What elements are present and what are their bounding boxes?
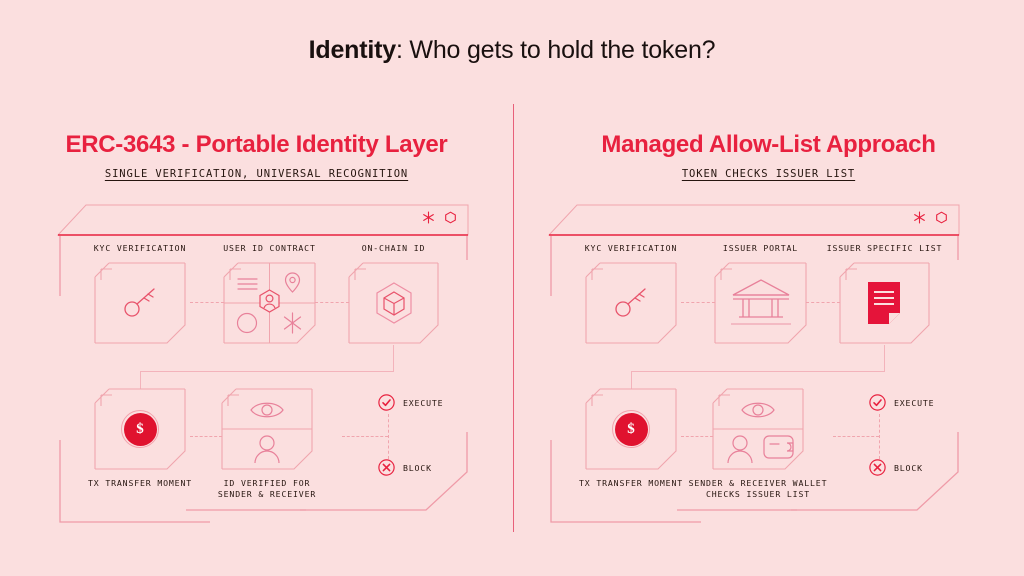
left-connector-top-1: [190, 302, 224, 303]
left-connector-top-2: [315, 302, 349, 303]
asterisk-icon: [422, 211, 435, 224]
check-circle-icon: [869, 394, 886, 411]
left-node-idverified-label: ID VERIFIED FOR SENDER & RECEIVER: [147, 478, 387, 500]
left-frame-header-glyphs: [422, 211, 457, 224]
left-outcome-execute-label: EXECUTE: [403, 398, 443, 408]
left-column-title: ERC-3643 - Portable Identity Layer: [0, 131, 513, 159]
left-node-user-id-contract[interactable]: USER ID CONTRACT: [224, 263, 315, 343]
right-node-wallet-label: SENDER & RECEIVER WALLET CHECKS ISSUER L…: [638, 478, 878, 500]
right-outcome-branch: [879, 414, 880, 459]
left-connector-down-to-tx: [140, 371, 141, 389]
infographic-canvas: Identity: Who gets to hold the token? ER…: [0, 0, 1024, 576]
right-connector-down-to-tx: [631, 371, 632, 389]
coin-symbol: $: [136, 422, 144, 437]
right-outcome-execute[interactable]: EXECUTE: [869, 394, 934, 411]
right-connector-vertical: [884, 345, 885, 371]
right-outcome-execute-label: EXECUTE: [894, 398, 934, 408]
right-node-kyc-verification[interactable]: KYC VERIFICATION: [586, 263, 676, 343]
x-circle-icon: [378, 459, 395, 476]
dollar-coin-icon: $: [612, 410, 650, 448]
right-frame-header-glyphs: [913, 211, 948, 224]
left-node-onchain-label: ON-CHAIN ID: [274, 243, 514, 254]
right-column-heading: Managed Allow-List Approach TOKEN CHECKS…: [513, 131, 1024, 180]
left-outcome-execute[interactable]: EXECUTE: [378, 394, 443, 411]
coin-disc: $: [615, 413, 648, 446]
x-circle-icon: [869, 459, 886, 476]
eye-person-wallet-icon: [713, 389, 803, 469]
document-filled-icon: [867, 281, 901, 325]
left-connector-horizontal: [140, 371, 394, 372]
coin-symbol: $: [627, 422, 635, 437]
asterisk-icon: [913, 211, 926, 224]
check-circle-icon: [378, 394, 395, 411]
hexagon-icon: [935, 211, 948, 224]
key-icon: [124, 287, 157, 318]
right-node-tx-transfer[interactable]: TX TRANSFER MOMENT $: [586, 389, 676, 469]
right-node-issuerlist-label: ISSUER SPECIFIC LIST: [765, 243, 1005, 254]
right-connector-horizontal: [631, 371, 885, 372]
right-outcome-block[interactable]: BLOCK: [869, 459, 923, 476]
coin-disc: $: [124, 413, 157, 446]
right-connector-top-1: [681, 302, 715, 303]
page-title: Identity: Who gets to hold the token?: [0, 36, 1024, 65]
left-node-kyc-verification[interactable]: KYC VERIFICATION: [95, 263, 185, 343]
bank-icon: [727, 277, 795, 331]
dollar-coin-icon: $: [121, 410, 159, 448]
right-column-subtitle: TOKEN CHECKS ISSUER LIST: [513, 168, 1024, 180]
right-column-title: Managed Allow-List Approach: [513, 131, 1024, 159]
right-outcome-block-label: BLOCK: [894, 463, 923, 473]
page-title-bold: Identity: [309, 36, 396, 64]
right-connector-top-2: [806, 302, 840, 303]
left-column-heading: ERC-3643 - Portable Identity Layer SINGL…: [0, 131, 513, 180]
hexagon-icon: [444, 211, 457, 224]
left-node-onchain-id[interactable]: ON-CHAIN ID: [349, 263, 438, 343]
left-connector-vertical: [393, 345, 394, 371]
left-outcome-branch: [388, 414, 389, 459]
left-outcome-block-label: BLOCK: [403, 463, 432, 473]
right-connector-bottom-1: [681, 436, 713, 437]
left-node-tx-transfer[interactable]: TX TRANSFER MOMENT $: [95, 389, 185, 469]
key-icon: [615, 287, 648, 318]
left-connector-bottom-1: [190, 436, 222, 437]
left-node-id-verified[interactable]: ID VERIFIED FOR SENDER & RECEIVER: [222, 389, 312, 469]
right-node-issuer-portal[interactable]: ISSUER PORTAL: [715, 263, 806, 343]
hexagon-cube-icon: [373, 281, 415, 325]
right-node-issuer-list[interactable]: ISSUER SPECIFIC LIST: [840, 263, 929, 343]
eye-person-icon: [222, 389, 312, 469]
left-connector-bottom-2: [342, 436, 388, 437]
identity-grid-icon: [224, 263, 315, 343]
right-node-wallet-check[interactable]: SENDER & RECEIVER WALLET CHECKS ISSUER L…: [713, 389, 803, 469]
left-outcome-block[interactable]: BLOCK: [378, 459, 432, 476]
left-column-subtitle: SINGLE VERIFICATION, UNIVERSAL RECOGNITI…: [0, 168, 513, 180]
page-title-rest: : Who gets to hold the token?: [396, 36, 715, 64]
right-connector-bottom-2: [833, 436, 879, 437]
